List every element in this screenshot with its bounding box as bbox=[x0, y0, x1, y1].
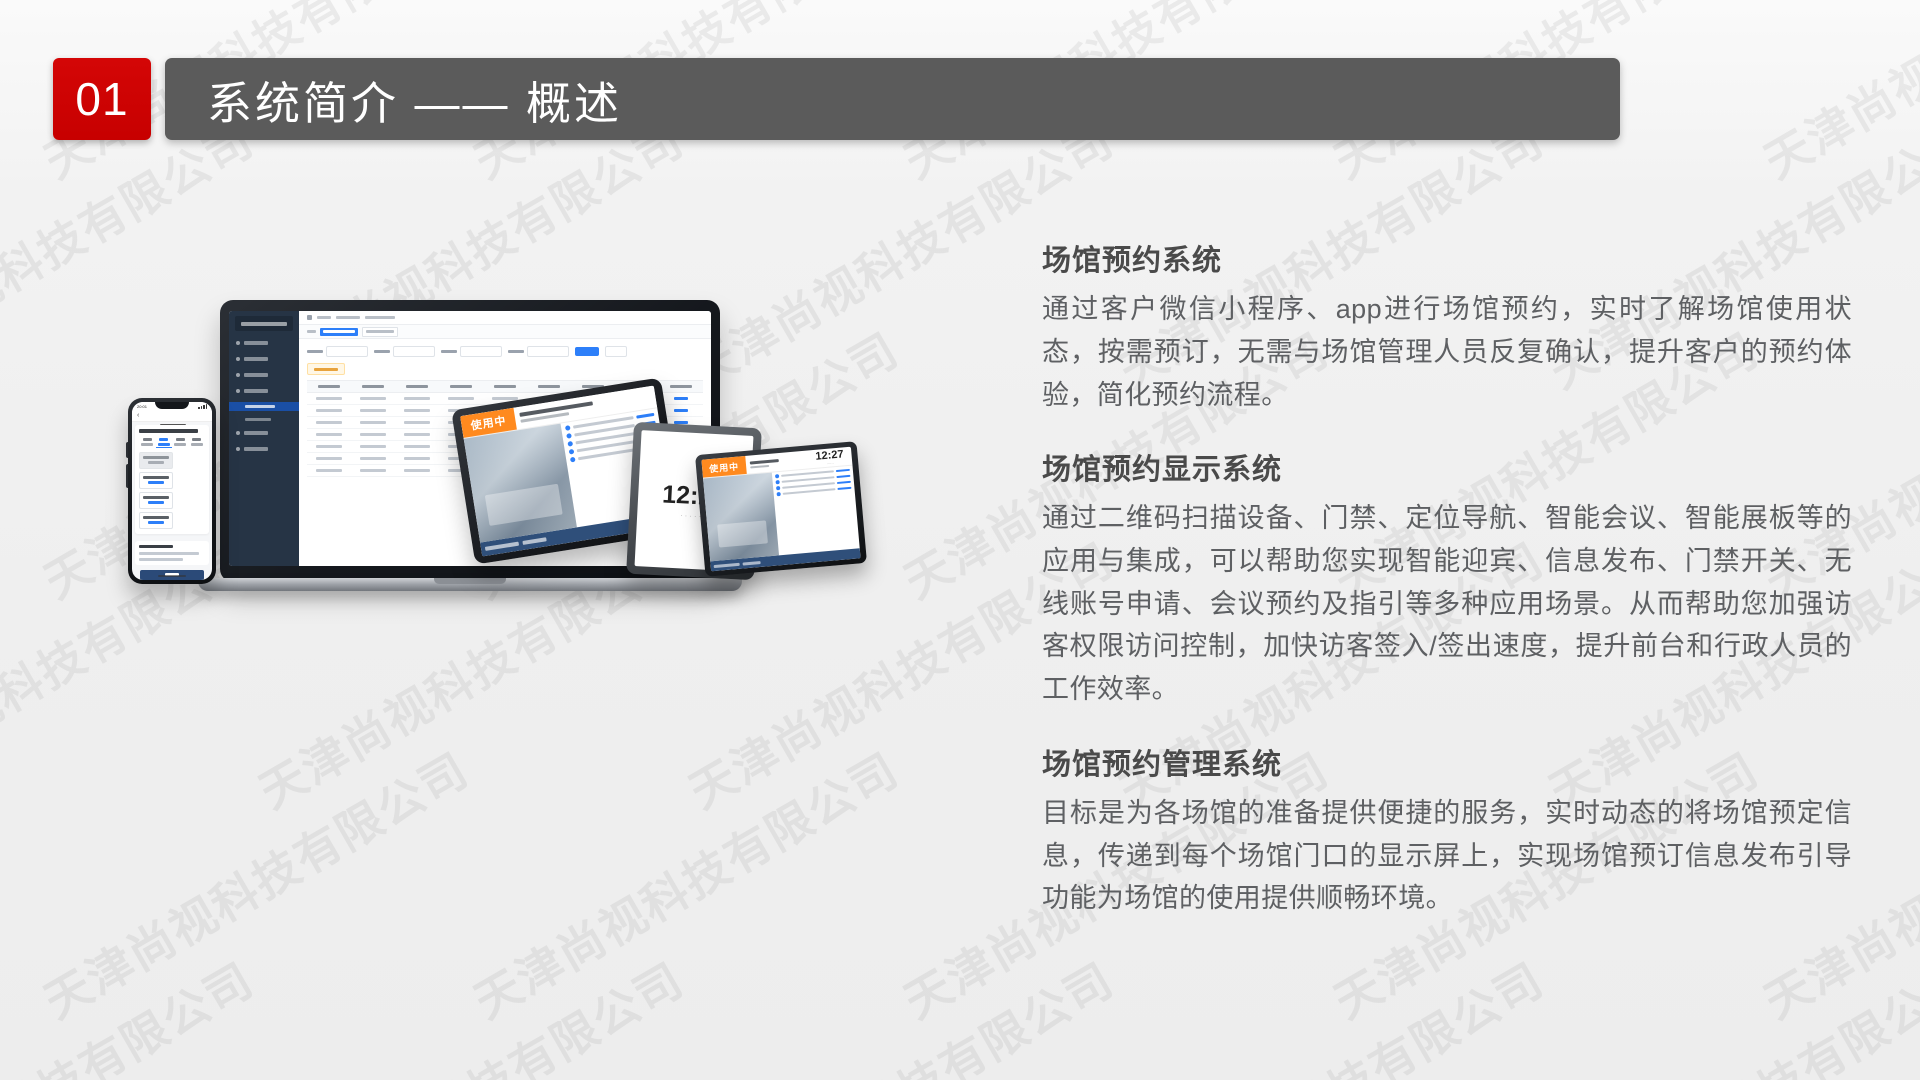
tab-bar-label bbox=[307, 330, 316, 333]
venue-name bbox=[139, 429, 198, 433]
filter-unit[interactable] bbox=[374, 346, 435, 357]
time-slot-unavailable[interactable] bbox=[139, 452, 173, 469]
watermark-text: 天津尚视科技有限公司 bbox=[1536, 944, 1920, 1080]
admin-sidebar bbox=[229, 311, 299, 566]
phone-notch bbox=[155, 402, 189, 409]
room-photo bbox=[703, 473, 779, 562]
watermark-text: 天津尚视科技有限公司 bbox=[0, 944, 264, 1080]
detail-line bbox=[139, 558, 183, 561]
detail-line bbox=[139, 552, 199, 555]
section-body: 目标是为各场馆的准备提供便捷的服务，实时动态的将场馆预定信息，传递到每个场馆门口… bbox=[1042, 792, 1852, 920]
admin-logo bbox=[235, 316, 293, 331]
content-text-column: 场馆预约系统 通过客户微信小程序、app进行场馆预约，实时了解场馆使用状态，按需… bbox=[1042, 243, 1852, 920]
door-display-body bbox=[703, 466, 860, 562]
device-mockup-group: 20:01 ‹ bbox=[110, 270, 930, 670]
date-option[interactable] bbox=[189, 438, 206, 448]
home-indicator bbox=[158, 575, 186, 577]
sidebar-item-device[interactable] bbox=[229, 370, 299, 379]
menu-collapse-icon[interactable] bbox=[307, 315, 312, 320]
slide-header: 01 系统简介 —— 概述 bbox=[0, 58, 1620, 140]
tab-active[interactable] bbox=[320, 328, 358, 336]
sidebar-item-booking[interactable] bbox=[229, 386, 299, 395]
filter-venue[interactable] bbox=[441, 346, 502, 357]
watermark-text: 天津尚视科技有限公司 bbox=[31, 734, 480, 1031]
breadcrumb bbox=[299, 311, 711, 325]
section-title: 场馆预约系统 bbox=[1042, 243, 1852, 279]
time-slot[interactable] bbox=[139, 512, 173, 529]
section-block-3: 场馆预约管理系统 目标是为各场馆的准备提供便捷的服务，实时动态的将场馆预定信息，… bbox=[1042, 747, 1852, 920]
watermark-text: 天津尚视科技有限公司 bbox=[1106, 944, 1555, 1080]
phone-navbar: ‹ bbox=[132, 410, 212, 421]
clock-date: ······ bbox=[827, 461, 834, 466]
sidebar-subitem-active[interactable] bbox=[229, 402, 299, 411]
header-title-bar: 系统简介 —— 概述 bbox=[165, 58, 1620, 140]
signal-icon bbox=[198, 404, 207, 409]
date-option-selected[interactable] bbox=[156, 438, 173, 448]
section-title: 场馆预约管理系统 bbox=[1042, 747, 1852, 783]
filter-applicant[interactable] bbox=[307, 346, 368, 357]
sidebar-subitem-2[interactable] bbox=[229, 415, 299, 424]
time-slot-grid bbox=[139, 452, 205, 529]
sidebar-item-settings[interactable] bbox=[229, 444, 299, 453]
room-photo bbox=[464, 424, 577, 543]
date-option[interactable] bbox=[172, 438, 189, 448]
door-display-screen: 使用中 12:27 ······ bbox=[701, 447, 860, 572]
booking-detail-panel bbox=[135, 541, 209, 565]
date-selector bbox=[139, 438, 205, 448]
section-block-1: 场馆预约系统 通过客户微信小程序、app进行场馆预约，实时了解场馆使用状态，按需… bbox=[1042, 243, 1852, 416]
booking-card bbox=[135, 425, 209, 534]
section-block-2: 场馆预约显示系统 通过二维码扫描设备、门禁、定位导航、智能会议、智能展板等的应用… bbox=[1042, 452, 1852, 711]
filter-status[interactable] bbox=[508, 346, 569, 357]
phone-mockup: 20:01 ‹ bbox=[128, 398, 216, 584]
tab-bar bbox=[299, 325, 711, 339]
section-title: 场馆预约显示系统 bbox=[1042, 452, 1852, 488]
phone-screen: 20:01 ‹ bbox=[132, 402, 212, 580]
watermark-text: 天津尚视科技有限公司 bbox=[246, 944, 695, 1080]
search-button[interactable] bbox=[575, 347, 599, 356]
reset-button[interactable] bbox=[605, 346, 627, 357]
laptop-notch bbox=[434, 578, 506, 584]
schedule-list bbox=[772, 466, 860, 556]
phone-clock: 20:01 bbox=[137, 404, 147, 409]
add-button[interactable] bbox=[307, 363, 345, 375]
sidebar-item-venue[interactable] bbox=[229, 354, 299, 363]
section-body: 通过客户微信小程序、app进行场馆预约，实时了解场馆使用状态，按需预订，无需与场… bbox=[1042, 288, 1852, 416]
filter-row bbox=[299, 339, 711, 363]
slide: 天津尚视科技有限公司天津尚视科技有限公司天津尚视科技有限公司天津尚视科技有限公司… bbox=[0, 0, 1920, 1080]
time-slot[interactable] bbox=[139, 492, 173, 509]
sidebar-item-home[interactable] bbox=[229, 338, 299, 347]
section-number-badge: 01 bbox=[53, 58, 151, 140]
sidebar-item-report[interactable] bbox=[229, 428, 299, 437]
tab-inactive[interactable] bbox=[362, 327, 398, 337]
watermark-text: 天津尚视科技有限公司 bbox=[676, 944, 1125, 1080]
section-body: 通过二维码扫描设备、门禁、定位导航、智能会议、智能展板等的应用与集成，可以帮助您… bbox=[1042, 497, 1852, 710]
detail-heading bbox=[139, 545, 173, 548]
phone-bezel: 20:01 ‹ bbox=[128, 398, 216, 584]
door-display-mockup: 使用中 12:27 ······ bbox=[695, 441, 867, 577]
phone-page-title bbox=[139, 414, 207, 417]
date-option[interactable] bbox=[139, 438, 156, 448]
watermark-text: 天津尚视科技有限公司 bbox=[461, 734, 910, 1031]
watermark-text: 天津尚视科技有限公司 bbox=[1751, 0, 1920, 192]
time-slot[interactable] bbox=[139, 472, 173, 489]
door-display-bezel: 使用中 12:27 ······ bbox=[695, 441, 867, 577]
page-title: 系统简介 —— 概述 bbox=[207, 67, 622, 132]
